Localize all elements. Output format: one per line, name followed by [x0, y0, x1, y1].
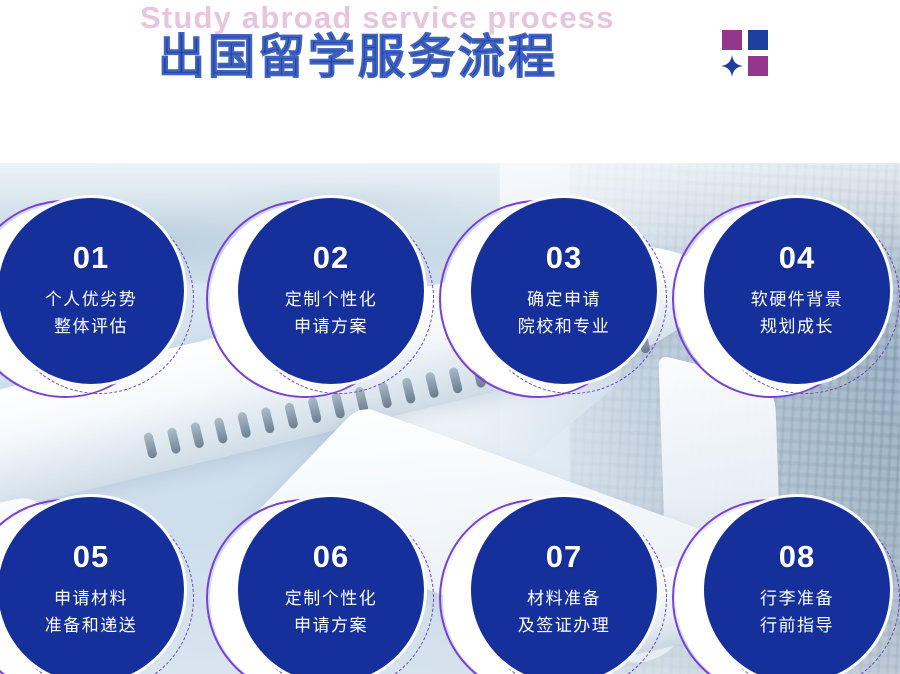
step-label-line2: 申请方案	[294, 613, 368, 639]
step-label-line1: 定制个性化	[285, 586, 378, 612]
step-disc[interactable]: 06 定制个性化 申请方案	[238, 497, 424, 674]
step-label-line2: 及签证办理	[518, 613, 611, 639]
step-number: 08	[779, 541, 815, 572]
step-node-05[interactable]: 05 申请材料 准备和递送	[0, 489, 194, 674]
step-label-line2: 整体评估	[54, 314, 128, 340]
step-disc[interactable]: 02 定制个性化 申请方案	[238, 198, 424, 384]
step-number: 05	[73, 541, 109, 572]
step-label-line2: 准备和递送	[45, 613, 138, 639]
step-node-02[interactable]: 02 定制个性化 申请方案	[204, 190, 434, 420]
step-number: 01	[73, 242, 109, 273]
step-label-line1: 申请材料	[54, 586, 128, 612]
step-node-07[interactable]: 07 材料准备 及签证办理	[437, 489, 667, 674]
step-disc[interactable]: 04 软硬件背景 规划成长	[704, 198, 890, 384]
step-node-04[interactable]: 04 软硬件背景 规划成长	[670, 190, 900, 420]
step-label-line2: 申请方案	[294, 314, 368, 340]
step-number: 06	[313, 541, 349, 572]
step-label-line2: 规划成长	[760, 314, 834, 340]
step-label-line2: 行前指导	[760, 613, 834, 639]
step-disc[interactable]: 05 申请材料 准备和递送	[0, 497, 184, 674]
step-label-line1: 软硬件背景	[751, 287, 844, 313]
step-label-line1: 材料准备	[527, 586, 601, 612]
step-node-06[interactable]: 06 定制个性化 申请方案	[204, 489, 434, 674]
step-node-08[interactable]: 08 行李准备 行前指导	[670, 489, 900, 674]
step-node-01[interactable]: 01 个人优劣势 整体评估	[0, 190, 194, 420]
step-label-line1: 确定申请	[527, 287, 601, 313]
step-number: 03	[546, 242, 582, 273]
step-disc[interactable]: 08 行李准备 行前指导	[704, 497, 890, 674]
infographic-canvas: Study abroad service process 出国留学服务流程 01…	[0, 0, 900, 674]
step-number: 07	[546, 541, 582, 572]
step-label-line1: 个人优劣势	[45, 287, 138, 313]
step-number: 04	[779, 242, 815, 273]
step-number: 02	[313, 242, 349, 273]
step-disc[interactable]: 07 材料准备 及签证办理	[471, 497, 657, 674]
step-label-line1: 行李准备	[760, 586, 834, 612]
step-label-line2: 院校和专业	[518, 314, 611, 340]
process-steps: 01 个人优劣势 整体评估 02 定制个性化 申请方案 03 确定申请 院校和专…	[0, 0, 900, 674]
step-label-line1: 定制个性化	[285, 287, 378, 313]
step-disc[interactable]: 03 确定申请 院校和专业	[471, 198, 657, 384]
step-disc[interactable]: 01 个人优劣势 整体评估	[0, 198, 184, 384]
step-node-03[interactable]: 03 确定申请 院校和专业	[437, 190, 667, 420]
